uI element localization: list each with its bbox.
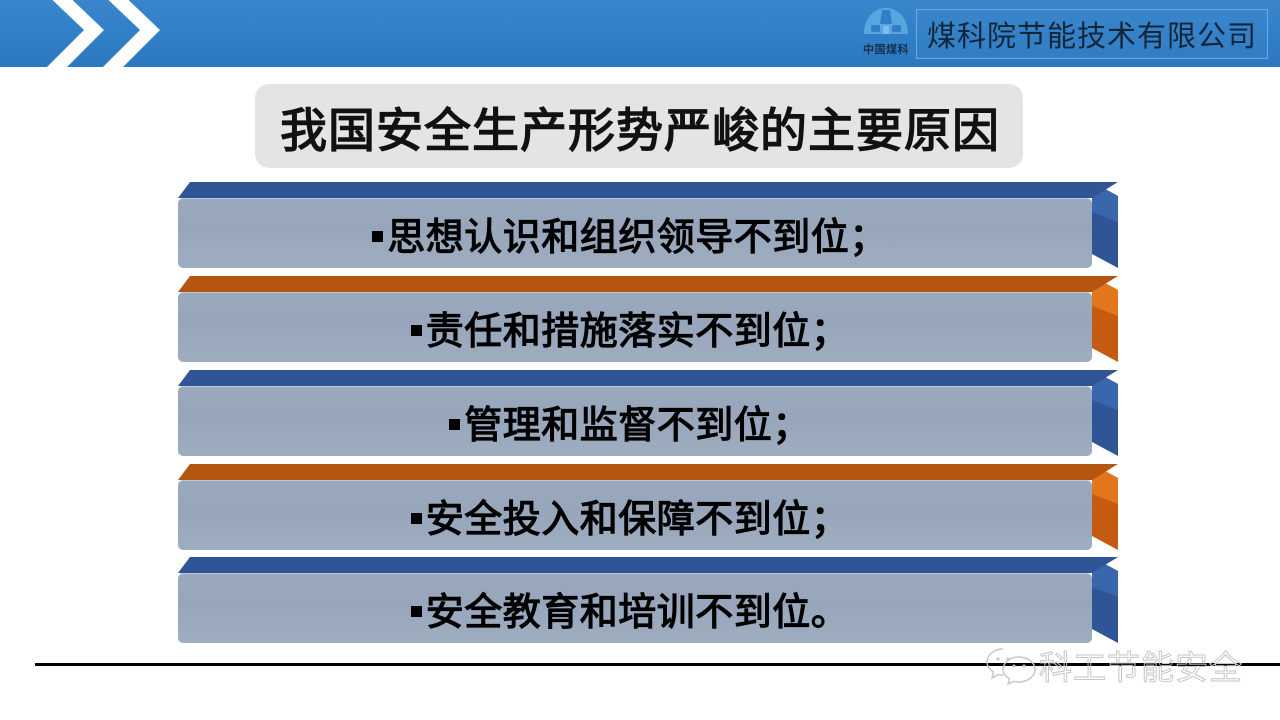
bullet-marker-icon — [372, 231, 383, 242]
bullet-bar-4[interactable]: 安全投入和保障不到位； — [178, 464, 1118, 550]
bullet-bar-label: 责任和措施落实不到位； — [178, 300, 1092, 355]
bullet-bar-label: 管理和监督不到位； — [178, 394, 1092, 449]
bullet-marker-icon — [411, 513, 422, 524]
bullet-bar-5[interactable]: 安全教育和培训不到位。 — [178, 557, 1118, 643]
bullet-marker-icon — [411, 606, 422, 617]
bullet-bar-1[interactable]: 思想认识和组织领导不到位； — [178, 182, 1118, 268]
bullet-bar-front: 思想认识和组织领导不到位； — [178, 198, 1092, 268]
bullet-bar-front: 安全投入和保障不到位； — [178, 480, 1092, 550]
bullet-bar-label: 安全教育和培训不到位。 — [178, 581, 1092, 636]
bullet-text: 安全教育和培训不到位。 — [426, 590, 850, 634]
slide-canvas: 中国煤科 煤科院节能技术有限公司 我国安全生产形势严峻的主要原因 思想认识和组织… — [0, 0, 1280, 720]
bullet-bar-front: 责任和措施落实不到位； — [178, 292, 1092, 362]
bullet-text: 思想认识和组织领导不到位； — [387, 215, 888, 259]
bullet-marker-icon — [449, 419, 460, 430]
bullet-bar-2[interactable]: 责任和措施落实不到位； — [178, 276, 1118, 362]
bullet-bar-label: 思想认识和组织领导不到位； — [178, 206, 1092, 261]
bullet-text: 管理和监督不到位； — [464, 403, 811, 447]
bullet-bar-front: 管理和监督不到位； — [178, 386, 1092, 456]
bullet-bar-3[interactable]: 管理和监督不到位； — [178, 370, 1118, 456]
footer-divider — [35, 663, 1280, 666]
bullet-bar-front: 安全教育和培训不到位。 — [178, 573, 1092, 643]
bullet-text: 安全投入和保障不到位； — [426, 497, 850, 541]
bullet-marker-icon — [411, 325, 422, 336]
page-title: 我国安全生产形势严峻的主要原因 — [0, 82, 1280, 170]
bullet-text: 责任和措施落实不到位； — [426, 309, 850, 353]
bullet-bar-label: 安全投入和保障不到位； — [178, 488, 1092, 543]
